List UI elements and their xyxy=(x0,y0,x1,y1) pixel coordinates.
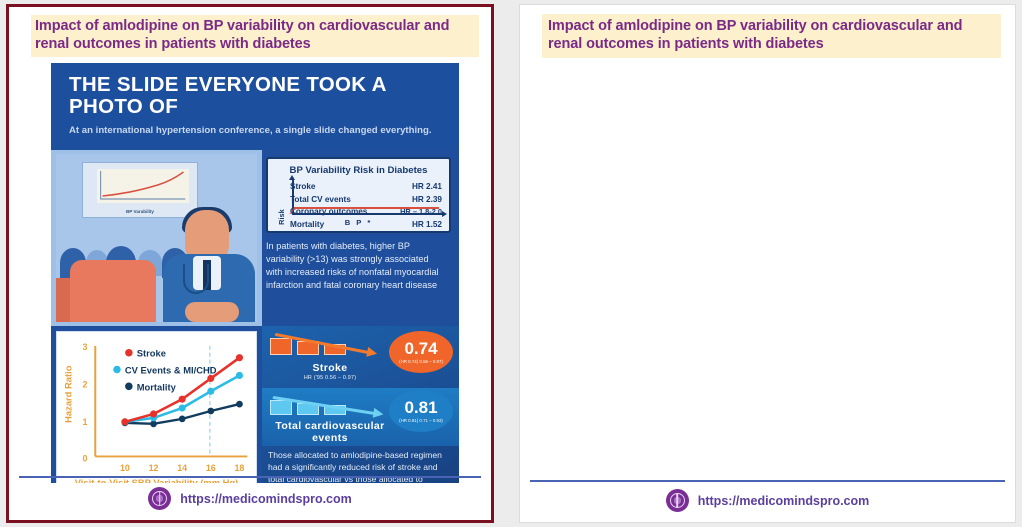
right-slide-card: Impact of amlodipine on BP variability o… xyxy=(519,4,1016,523)
conference-scene-illustration: BP Varability xyxy=(51,150,262,326)
left-slide-card: Impact of amlodipine on BP variability o… xyxy=(6,4,494,523)
right-footer-rule xyxy=(530,480,1005,482)
x-tick-12: 12 xyxy=(149,463,159,473)
left-card-title: Impact of amlodipine on BP variability o… xyxy=(31,15,479,57)
risk-note-text: In patients with diabetes, higher BP var… xyxy=(266,240,451,292)
y-tick-3: 3 xyxy=(82,342,87,352)
risk-box-heading: BP Variability Risk in Diabetes xyxy=(275,165,442,176)
risk-x-axis xyxy=(292,213,443,215)
globe-icon xyxy=(148,487,171,510)
outcomes-panel: Stroke HR ('95 0.56 – 0.97) 0.74 (HR 0.7… xyxy=(262,326,459,483)
left-footer-rule xyxy=(19,476,481,478)
x-tick-14: 14 xyxy=(177,463,187,473)
x-tick-10: 10 xyxy=(120,463,130,473)
hazard-ratio-svg: 3 2 1 0 Hazard Ratio 10 12 14 xyxy=(57,332,256,483)
y-tick-0: 0 xyxy=(82,454,87,464)
projector-plot xyxy=(97,169,189,203)
y-tick-2: 2 xyxy=(82,379,87,389)
risk-x-axis-label: B P * xyxy=(275,218,442,227)
stroke-ci: HR ('95 0.56 – 0.97) xyxy=(266,375,394,381)
stroke-outcome-block: Stroke HR ('95 0.56 – 0.97) 0.74 (HR 0.7… xyxy=(262,326,459,388)
risk-row-value: HR 2.39 xyxy=(412,194,442,206)
globe-icon xyxy=(666,489,689,512)
bp-variability-risk-box: BP Variability Risk in Diabetes Risk Str… xyxy=(266,157,451,233)
chart-x-label: Visit-to-Visit SBP Variability (mm Hg) xyxy=(75,478,239,483)
infographic-headline: THE SLIDE EVERYONE TOOK A PHOTO OF xyxy=(69,74,443,118)
left-infographic: THE SLIDE EVERYONE TOOK A PHOTO OF At an… xyxy=(51,63,459,483)
stroke-hr-badge: 0.74 (HR 0.74) 0.56 – 0.97) xyxy=(389,331,453,373)
cv-hr-ci: (HR 0.81) 0.71 – 0.93) xyxy=(399,418,443,424)
risk-row: Total CV events HR 2.39 xyxy=(286,194,442,206)
risk-row: Stroke HR 2.41 xyxy=(286,181,442,193)
total-cv-label: Total cardiovascular events xyxy=(266,420,394,444)
stroke-label-group: Stroke HR ('95 0.56 – 0.97) xyxy=(266,362,394,381)
risk-curve xyxy=(294,207,439,209)
screenshot-stage: Impact of amlodipine on BP variability o… xyxy=(0,0,1022,527)
infographic-subhead: At an international hypertension confere… xyxy=(69,125,443,138)
stroke-hr-value: 0.74 xyxy=(404,340,437,357)
right-footer: https://medicomindspro.com xyxy=(520,489,1015,512)
risk-column: BP Variability Risk in Diabetes Risk Str… xyxy=(262,150,459,326)
legend-mortality: Mortality xyxy=(137,382,177,392)
hazard-ratio-chart: 3 2 1 0 Hazard Ratio 10 12 14 xyxy=(56,331,257,483)
site-url-link[interactable]: https://medicomindspro.com xyxy=(698,494,870,508)
risk-row-label: Total CV events xyxy=(290,194,351,206)
left-footer: https://medicomindspro.com xyxy=(9,487,491,510)
risk-row-label: Stroke xyxy=(290,181,315,193)
x-tick-18: 18 xyxy=(235,463,245,473)
stroke-hr-ci: (HR 0.74) 0.56 – 0.97) xyxy=(399,359,443,365)
x-tick-16: 16 xyxy=(206,463,216,473)
cv-hr-value: 0.81 xyxy=(404,399,437,416)
stroke-label: Stroke xyxy=(266,362,394,374)
infographic-bottom-row: 3 2 1 0 Hazard Ratio 10 12 14 xyxy=(51,326,459,483)
legend-cv-events: CV Events & MI/CHD xyxy=(125,366,217,376)
stethoscope-icon xyxy=(183,264,209,294)
y-tick-1: 1 xyxy=(82,417,87,427)
chart-y-label: Hazard Ratio xyxy=(64,365,74,423)
cv-hr-badge: 0.81 (HR 0.81) 0.71 – 0.93) xyxy=(389,390,453,432)
total-cv-outcome-block: Total cardiovascular events 0.81 (HR 0.8… xyxy=(262,388,459,446)
infographic-middle-row: BP Varability xyxy=(51,150,459,326)
hazard-ratio-chart-wrapper: 3 2 1 0 Hazard Ratio 10 12 14 xyxy=(51,326,262,483)
cv-label-group: Total cardiovascular events xyxy=(266,420,394,444)
risk-row-value: HR 2.41 xyxy=(412,181,442,193)
site-url-link[interactable]: https://medicomindspro.com xyxy=(180,492,352,506)
right-card-title: Impact of amlodipine on BP variability o… xyxy=(542,14,1001,58)
legend-stroke: Stroke xyxy=(137,349,166,359)
attendee-doctor-figure xyxy=(159,210,255,322)
infographic-header: THE SLIDE EVERYONE TOOK A PHOTO OF At an… xyxy=(51,63,459,150)
